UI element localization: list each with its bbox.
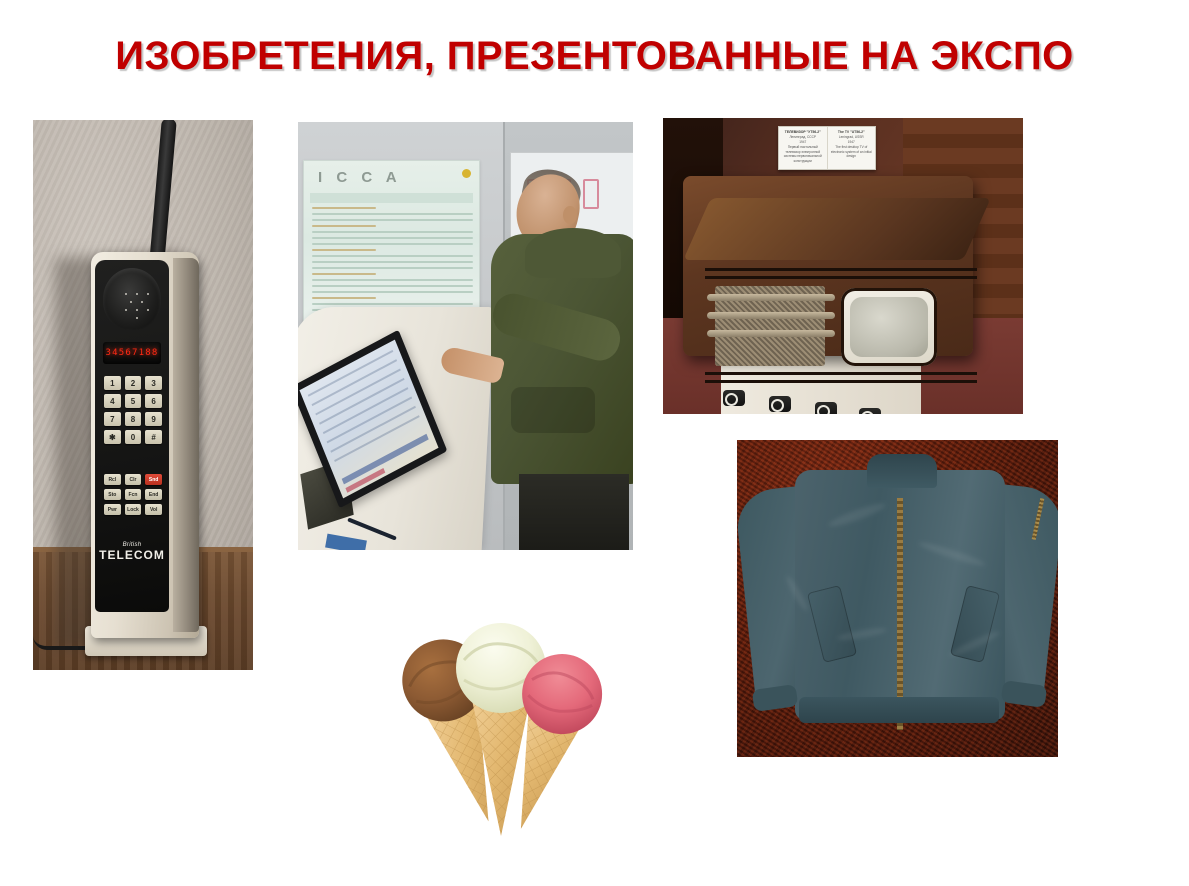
tv-screen — [850, 297, 928, 357]
keypad-key[interactable]: 3 — [145, 376, 162, 390]
label-desc-ru: Первый настольный телевизор электронной … — [781, 145, 825, 164]
slide-canvas: ИЗОБРЕТЕНИЯ, ПРЕЗЕНТОВАННЫЕ НА ЭКСПО — [0, 0, 1189, 886]
photo-ice-cream-cones — [330, 596, 670, 844]
function-key-rcl[interactable]: Rcl — [104, 474, 121, 485]
function-key-snd[interactable]: Snd — [145, 474, 162, 485]
function-key-pwr[interactable]: Pwr — [104, 504, 121, 515]
poster-title: I C C A — [318, 169, 402, 186]
photo-vintage-television: ТЕЛЕВИЗОР "УТ56-2" Ленинград, СССР 1947 … — [663, 118, 1023, 414]
poster-band — [310, 193, 473, 203]
function-key-clr[interactable]: Clr — [125, 474, 142, 485]
photo-touchscreen-kiosk: I C C A — [298, 122, 633, 550]
brand-name-large: TELECOM — [95, 548, 169, 562]
keypad-key[interactable]: 4 — [104, 394, 121, 408]
keypad-key[interactable]: 2 — [125, 376, 142, 390]
hood — [525, 228, 621, 278]
keypad-key[interactable]: 6 — [145, 394, 162, 408]
keypad-key[interactable]: 7 — [104, 412, 121, 426]
cabinet-top-surface — [683, 198, 991, 260]
phone-brand-logo: British TELECOM — [95, 542, 169, 562]
museum-label-card: ТЕЛЕВИЗОР "УТ56-2" Ленинград, СССР 1947 … — [778, 126, 876, 170]
label-english: The TV "UT56-2" Leningrad, USSR 1947 The… — [827, 127, 876, 169]
pin-icon — [462, 169, 471, 178]
fabric-folds — [737, 440, 1058, 757]
function-key-lock[interactable]: Lock — [125, 504, 142, 515]
keypad-key[interactable]: 0 — [125, 430, 142, 444]
phone-body: 34567188 1 2 3 4 5 6 7 8 9 ✱ 0 # — [91, 252, 199, 638]
page-title: ИЗОБРЕТЕНИЯ, ПРЕЗЕНТОВАННЫЕ НА ЭКСПО — [0, 34, 1189, 79]
knob[interactable] — [769, 396, 791, 412]
hoodie-pocket — [511, 387, 595, 433]
photo-bomber-jacket — [737, 440, 1058, 757]
function-keypad[interactable]: Rcl Clr Snd Sto Fcn End Pwr Lock Vol — [104, 474, 162, 515]
label-desc-en: The first desktop TV of electronic syste… — [830, 145, 874, 159]
speaker-holes — [125, 293, 151, 319]
ice-cream-illustration — [330, 596, 670, 844]
keypad-key[interactable]: 9 — [145, 412, 162, 426]
phone-side-panel — [173, 258, 199, 632]
keypad-key[interactable]: ✱ — [104, 430, 121, 444]
tv-screen-bezel — [841, 288, 937, 366]
function-key-end[interactable]: End — [145, 489, 162, 500]
numeric-keypad[interactable]: 1 2 3 4 5 6 7 8 9 ✱ 0 # — [104, 376, 162, 444]
function-key-sto[interactable]: Sto — [104, 489, 121, 500]
knob[interactable] — [723, 390, 745, 406]
keypad-key[interactable]: 8 — [125, 412, 142, 426]
tv-wooden-cabinet — [683, 176, 973, 356]
control-knobs[interactable] — [723, 388, 933, 414]
function-key-fcn[interactable]: Fcn — [125, 489, 142, 500]
knob[interactable] — [815, 402, 837, 414]
function-key-vol[interactable]: Vol — [145, 504, 162, 515]
earpiece-speaker — [103, 268, 161, 330]
decorative-bars — [707, 288, 837, 368]
photo-mobile-phone: 34567188 1 2 3 4 5 6 7 8 9 ✱ 0 # — [33, 120, 253, 670]
keypad-key[interactable]: # — [145, 430, 162, 444]
legs — [519, 474, 629, 550]
ear — [563, 206, 577, 224]
label-russian: ТЕЛЕВИЗОР "УТ56-2" Ленинград, СССР 1947 … — [779, 127, 827, 169]
keypad-key[interactable]: 1 — [104, 376, 121, 390]
knob[interactable] — [859, 408, 881, 414]
phone-front-face: 34567188 1 2 3 4 5 6 7 8 9 ✱ 0 # — [95, 260, 169, 612]
person-using-kiosk — [483, 162, 633, 550]
led-display: 34567188 — [103, 342, 161, 364]
led-display-digits: 34567188 — [106, 348, 159, 358]
keypad-key[interactable]: 5 — [125, 394, 142, 408]
